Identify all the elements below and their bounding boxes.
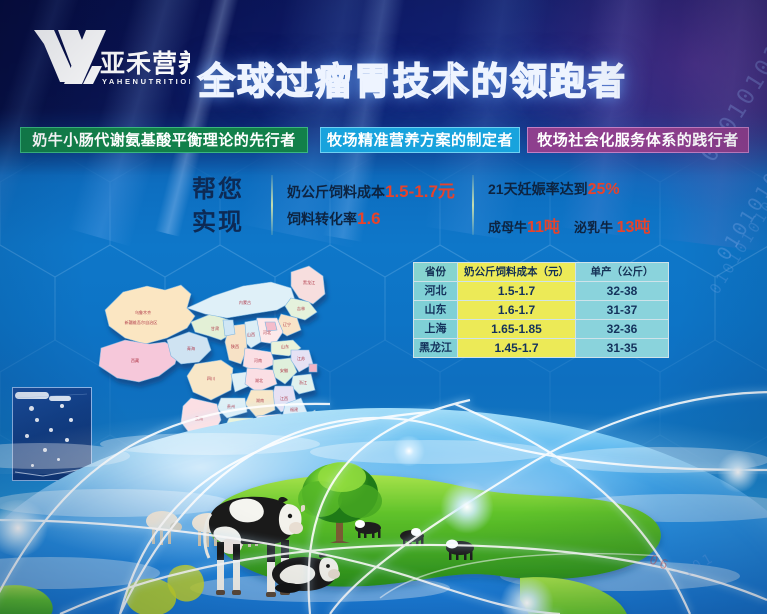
stats-label-line2: 实现 [192, 206, 264, 239]
table-row: 山东 1.6-1.7 31-37 [414, 301, 669, 320]
light-flare [716, 452, 760, 492]
map-label: 青海 [187, 345, 195, 351]
stats-label: 帮您 实现 [192, 173, 264, 239]
map-label: 山东 [281, 343, 289, 349]
calf [268, 540, 344, 596]
cell-yield: 31-35 [576, 339, 669, 358]
map-label: 安徽 [280, 367, 288, 373]
table-row: 上海 1.65-1.85 32-36 [414, 320, 669, 339]
map-label: 湖南 [256, 397, 264, 403]
province-data-table: 省份 奶公斤饲料成本（元） 单产（公斤） 河北 1.5-1.7 32-38 山东… [413, 262, 669, 358]
page-title: 全球过瘤胃技术的领跑者 [198, 57, 638, 107]
map-label: 西藏 [131, 357, 139, 363]
poster-canvas: 0101010101 01010101010 010101010 亚禾营养 YA… [0, 0, 767, 614]
table-header-province: 省份 [414, 263, 458, 282]
map-label: 辽宁 [283, 321, 291, 327]
map-label: 河南 [254, 357, 262, 363]
table-row: 黑龙江 1.45-1.7 31-35 [414, 339, 669, 358]
cell-yield: 31-37 [576, 301, 669, 320]
map-label: 湖北 [255, 377, 263, 383]
cell-province: 黑龙江 [414, 339, 458, 358]
banner-practitioner[interactable]: 牧场社会化服务体系的践行者 [527, 127, 749, 153]
table-header-row: 省份 奶公斤饲料成本（元） 单产（公斤） [414, 263, 669, 282]
map-label: 江西 [280, 395, 288, 401]
cell-province: 河北 [414, 282, 458, 301]
table-row: 河北 1.5-1.7 32-38 [414, 282, 669, 301]
green-tree [290, 455, 390, 545]
table-header-feed-cost: 奶公斤饲料成本（元） [458, 263, 576, 282]
stats-divider [472, 175, 474, 235]
stat-pregnancy-rate-label: 21天妊娠率达到 [488, 181, 588, 197]
light-flare [440, 480, 494, 534]
cell-feed-cost: 1.65-1.85 [458, 320, 576, 339]
brand-logo: 亚禾营养 YAHENUTRITION [30, 22, 190, 94]
map-label: 新疆维吾尔自治区 [125, 319, 158, 325]
stat-pregnancy-rate-value: 25% [588, 181, 620, 198]
cell-province: 山东 [414, 301, 458, 320]
map-label: 甘肃 [211, 325, 219, 331]
stat-mature-cow-value: 11吨 [527, 219, 560, 236]
banner-pioneer[interactable]: 奶牛小肠代谢氨基酸平衡理论的先行者 [20, 127, 308, 153]
cell-province: 上海 [414, 320, 458, 339]
cell-feed-cost: 1.45-1.7 [458, 339, 576, 358]
stat-feed-cost: 奶公斤饲料成本1.5-1.7元 [287, 177, 455, 202]
map-label: 山西 [247, 331, 255, 337]
stat-feed-cost-value: 1.5-1.7元 [385, 182, 455, 201]
map-label: 陕西 [231, 343, 239, 349]
map-label: 乌鲁木齐 [135, 309, 151, 315]
stats-divider [271, 175, 273, 235]
banner-formulator[interactable]: 牧场精准营养方案的制定者 [320, 127, 520, 153]
stat-milk-yield: 成母牛11吨泌乳牛 13吨 [488, 213, 650, 237]
cell-feed-cost: 1.5-1.7 [458, 282, 576, 301]
cell-yield: 32-36 [576, 320, 669, 339]
sheep [146, 511, 182, 545]
cell-yield: 32-38 [576, 282, 669, 301]
stat-feed-cost-label: 奶公斤饲料成本 [287, 184, 385, 200]
logo-graphic: 亚禾营养 YAHENUTRITION [30, 22, 190, 94]
cell-feed-cost: 1.6-1.7 [458, 301, 576, 320]
stats-label-line1: 帮您 [192, 173, 264, 206]
stat-lactating-cow-label: 泌乳牛 [574, 220, 613, 235]
map-label: 四川 [207, 376, 215, 381]
light-flare [392, 436, 426, 466]
stats-row: 帮您 实现 奶公斤饲料成本1.5-1.7元 饲料转化率1.6 21天妊娠率达到2… [192, 173, 662, 239]
stat-lactating-cow-value: 13吨 [617, 219, 651, 236]
map-label: 浙江 [299, 379, 307, 385]
map-label: 内蒙古 [239, 299, 251, 305]
map-label: 黑龙江 [303, 279, 315, 285]
stat-mature-cow-label: 成母牛 [488, 220, 527, 235]
stat-feed-conversion-value: 1.6 [357, 209, 381, 228]
logo-brand-en: YAHENUTRITION [102, 77, 190, 86]
stat-pregnancy-rate: 21天妊娠率达到25% [488, 179, 620, 199]
stat-feed-conversion: 饲料转化率1.6 [287, 209, 381, 229]
table-header-yield: 单产（公斤） [576, 263, 669, 282]
map-label: 河北 [263, 329, 271, 335]
stat-feed-conversion-label: 饲料转化率 [287, 211, 357, 227]
map-label: 吉林 [297, 305, 305, 311]
logo-brand-cn: 亚禾营养 [100, 49, 190, 78]
map-label: 江苏 [297, 355, 305, 361]
